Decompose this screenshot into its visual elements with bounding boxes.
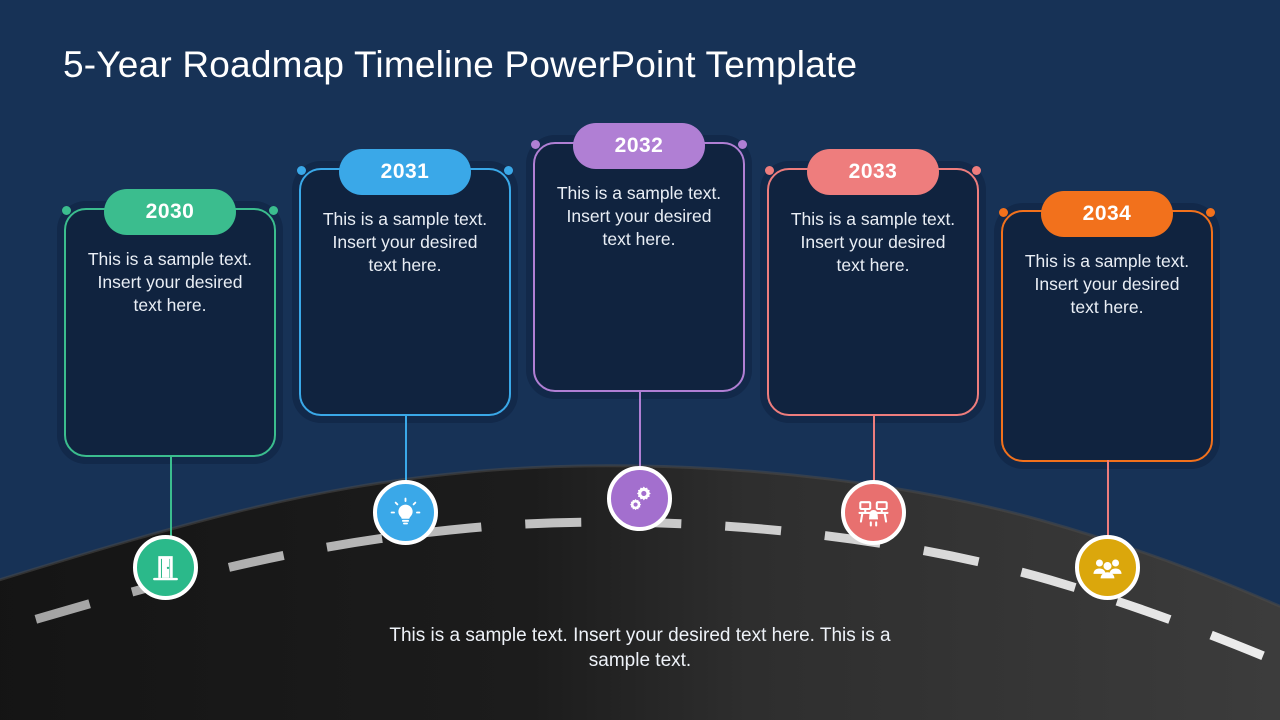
connector-dot-left bbox=[999, 208, 1008, 217]
year-badge-2032[interactable]: 2032 bbox=[573, 123, 705, 169]
connector-dot-right bbox=[972, 166, 981, 175]
year-badge-2031[interactable]: 2031 bbox=[339, 149, 471, 195]
year-badge-2034[interactable]: 2034 bbox=[1041, 191, 1173, 237]
milestone-card-2031[interactable]: 2031 This is a sample text. Insert your … bbox=[299, 168, 511, 416]
milestone-body-text: This is a sample text. Insert your desir… bbox=[535, 182, 743, 265]
connector-dot-left bbox=[297, 166, 306, 175]
connector-dot-left bbox=[765, 166, 774, 175]
year-label: 2034 bbox=[1083, 202, 1132, 226]
connector-stem-2032 bbox=[639, 390, 641, 470]
year-label: 2030 bbox=[146, 200, 195, 224]
milestone-body-text: This is a sample text. Insert your desir… bbox=[769, 208, 977, 291]
connector-dot-right bbox=[269, 206, 278, 215]
milestone-body-text: This is a sample text. Insert your desir… bbox=[301, 208, 509, 291]
milestone-body-text: This is a sample text. Insert your desir… bbox=[1003, 250, 1211, 333]
page-title: 5-Year Roadmap Timeline PowerPoint Templ… bbox=[63, 44, 857, 86]
people-group-icon bbox=[1091, 551, 1124, 584]
connector-stem-2034 bbox=[1107, 460, 1109, 540]
connector-dot-right bbox=[1206, 208, 1215, 217]
milestone-card-2033[interactable]: 2033 This is a sample text. Insert your … bbox=[767, 168, 979, 416]
milestone-icon-2032[interactable] bbox=[607, 466, 672, 531]
year-label: 2033 bbox=[849, 160, 898, 184]
milestone-card-2034[interactable]: 2034 This is a sample text. Insert your … bbox=[1001, 210, 1213, 462]
door-icon bbox=[149, 551, 182, 584]
slide-canvas: 5-Year Roadmap Timeline PowerPoint Templ… bbox=[0, 0, 1280, 720]
connector-stem-2031 bbox=[405, 414, 407, 486]
milestone-icon-2030[interactable] bbox=[133, 535, 198, 600]
milestone-icon-2033[interactable] bbox=[841, 480, 906, 545]
connector-dot-left bbox=[62, 206, 71, 215]
year-label: 2031 bbox=[381, 160, 430, 184]
year-badge-2033[interactable]: 2033 bbox=[807, 149, 939, 195]
connector-dot-right bbox=[738, 140, 747, 149]
year-label: 2032 bbox=[615, 134, 664, 158]
workstation-icon bbox=[857, 496, 890, 529]
footer-caption: This is a sample text. Insert your desir… bbox=[360, 623, 920, 673]
lightbulb-icon bbox=[389, 496, 422, 529]
year-badge-2030[interactable]: 2030 bbox=[104, 189, 236, 235]
connector-dot-right bbox=[504, 166, 513, 175]
gears-icon bbox=[623, 482, 656, 515]
milestone-icon-2031[interactable] bbox=[373, 480, 438, 545]
milestone-icon-2034[interactable] bbox=[1075, 535, 1140, 600]
connector-dot-left bbox=[531, 140, 540, 149]
milestone-card-2030[interactable]: 2030 This is a sample text. Insert your … bbox=[64, 208, 276, 457]
milestone-card-2032[interactable]: 2032 This is a sample text. Insert your … bbox=[533, 142, 745, 392]
connector-stem-2033 bbox=[873, 414, 875, 486]
connector-stem-2030 bbox=[170, 455, 172, 540]
milestone-body-text: This is a sample text. Insert your desir… bbox=[66, 248, 274, 331]
